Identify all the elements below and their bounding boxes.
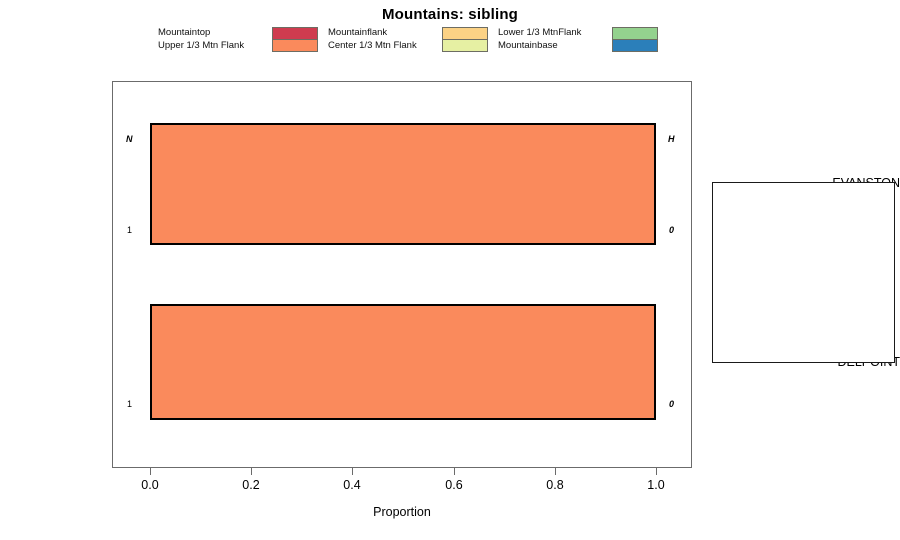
side-panel — [712, 182, 895, 363]
legend-item-label-lower-third: Lower 1/3 MtnFlank — [498, 26, 610, 39]
x-axis-title: Proportion — [112, 505, 692, 519]
annotation-delpoint-bottom-right: 0 — [669, 399, 674, 409]
annotation-delpoint-bottom-left: 1 — [127, 399, 132, 409]
x-tick-5 — [656, 468, 657, 475]
legend-column-3: Lower 1/3 MtnFlank Mountainbase — [498, 26, 668, 54]
legend-labels-1: Mountaintop Upper 1/3 Mtn Flank — [158, 26, 270, 54]
legend-item-label-center-third: Center 1/3 Mtn Flank — [328, 39, 440, 52]
chart-canvas: Mountains: sibling Mountaintop Upper 1/3… — [0, 0, 900, 540]
chart-legend: Mountaintop Upper 1/3 Mtn Flank Mountain… — [158, 26, 678, 54]
legend-labels-3: Lower 1/3 MtnFlank Mountainbase — [498, 26, 610, 54]
annotation-evanston-bottom-right: 0 — [669, 225, 674, 235]
x-tick-1 — [251, 468, 252, 475]
legend-swatch-lower-third — [613, 28, 657, 40]
x-tick-label-4: 0.8 — [532, 478, 578, 492]
annotation-evanston-bottom-left: 1 — [127, 225, 132, 235]
chart-title: Mountains: sibling — [0, 6, 900, 23]
x-tick-label-1: 0.2 — [228, 478, 274, 492]
legend-column-2: Mountainflank Center 1/3 Mtn Flank — [328, 26, 496, 54]
legend-column-1: Mountaintop Upper 1/3 Mtn Flank — [158, 26, 326, 54]
legend-item-label-mountaintop: Mountaintop — [158, 26, 270, 39]
legend-swatch-stack-2 — [442, 27, 488, 52]
legend-swatch-stack-3 — [612, 27, 658, 52]
x-tick-label-5: 1.0 — [633, 478, 679, 492]
legend-swatch-center-third — [443, 40, 487, 52]
annotation-evanston-top-left: N — [126, 134, 133, 144]
x-tick-4 — [555, 468, 556, 475]
x-tick-label-0: 0.0 — [127, 478, 173, 492]
legend-labels-2: Mountainflank Center 1/3 Mtn Flank — [328, 26, 440, 54]
x-tick-3 — [454, 468, 455, 475]
annotation-evanston-top-right: H — [668, 134, 675, 144]
legend-item-label-mountainflank: Mountainflank — [328, 26, 440, 39]
x-tick-0 — [150, 468, 151, 475]
legend-swatch-mountainflank — [443, 28, 487, 40]
x-tick-label-2: 0.4 — [329, 478, 375, 492]
bar-delpoint[interactable] — [150, 304, 656, 420]
legend-swatch-mountainbase — [613, 40, 657, 52]
x-tick-2 — [352, 468, 353, 475]
legend-swatch-stack-1 — [272, 27, 318, 52]
x-tick-label-3: 0.6 — [431, 478, 477, 492]
bar-evanston[interactable] — [150, 123, 656, 245]
legend-item-label-mountainbase: Mountainbase — [498, 39, 610, 52]
legend-item-label-upper-third: Upper 1/3 Mtn Flank — [158, 39, 270, 52]
legend-swatch-upper-third — [273, 40, 317, 52]
legend-swatch-mountaintop — [273, 28, 317, 40]
x-axis: 0.0 0.2 0.4 0.6 0.8 1.0 — [112, 468, 692, 508]
